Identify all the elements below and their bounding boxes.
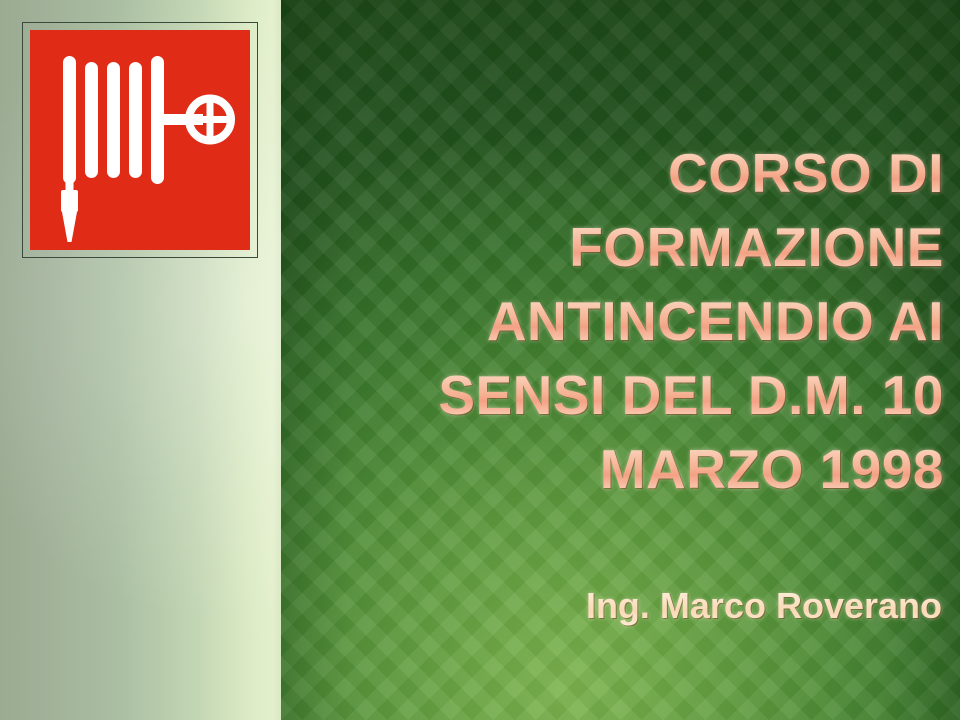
- presentation-slide: Corso di Formazione Antincendio ai Sensi…: [0, 0, 960, 720]
- title-line-5: Marzo 1998: [344, 432, 944, 506]
- title-line-1: Corso di: [344, 136, 944, 210]
- fire-hose-reel-sign-frame: [22, 22, 258, 258]
- slide-subtitle: Ing. Marco Roverano: [342, 583, 942, 629]
- subtitle-author: Ing. Marco Roverano: [342, 583, 942, 629]
- fire-hose-reel-icon: [30, 30, 250, 250]
- title-line-3: Antincendio ai: [344, 284, 944, 358]
- slide-title: Corso di Formazione Antincendio ai Sensi…: [344, 136, 944, 506]
- title-line-4: Sensi del D.M. 10: [344, 358, 944, 432]
- title-line-2: Formazione: [344, 210, 944, 284]
